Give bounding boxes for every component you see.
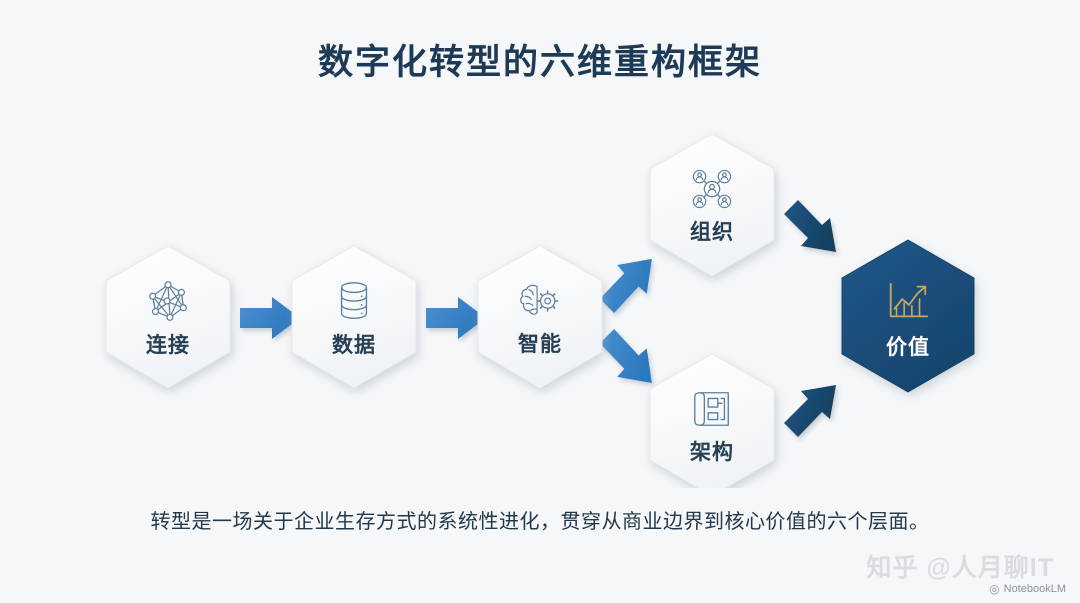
node-org[interactable]: 组织 — [648, 136, 776, 276]
network-mesh-icon — [145, 278, 191, 324]
people-network-icon — [689, 167, 735, 211]
node-intel[interactable]: 智能 — [476, 248, 604, 388]
database-icon — [332, 278, 376, 324]
brain-gear-icon — [516, 279, 564, 323]
growth-chart-icon — [883, 278, 933, 326]
node-data[interactable]: 数据 — [290, 248, 418, 388]
arrow-intel-to-arch — [600, 329, 652, 383]
arrow-arch-to-value — [784, 385, 836, 437]
node-label-intel: 智能 — [518, 328, 562, 358]
notebooklm-label: NotebookLM — [1004, 583, 1066, 595]
node-label-connect: 连接 — [146, 329, 190, 359]
page-title: 数字化转型的六维重构框架 — [0, 34, 1080, 85]
notebooklm-icon: ◎ — [989, 583, 999, 595]
blueprint-icon — [689, 387, 735, 431]
notebooklm-badge: ◎ NotebookLM — [989, 583, 1066, 595]
diagram-stage: 连接 数据 — [0, 118, 1080, 488]
node-connect[interactable]: 连接 — [104, 248, 232, 388]
node-label-value: 价值 — [886, 331, 930, 361]
node-label-org: 组织 — [690, 216, 734, 246]
caption-text: 转型是一场关于企业生存方式的系统性进化，贯穿从商业边界到核心价值的六个层面。 — [0, 505, 1080, 534]
arrow-intel-to-org — [600, 259, 652, 313]
arrow-org-to-value — [784, 200, 836, 252]
node-label-arch: 架构 — [690, 436, 734, 466]
zhihu-watermark: 知乎 @人月聊IT — [866, 548, 1054, 584]
slide-canvas: 数字化转型的六维重构框架 — [0, 0, 1080, 603]
node-value[interactable]: 价值 — [838, 244, 978, 394]
node-label-data: 数据 — [332, 329, 376, 359]
node-arch[interactable]: 架构 — [648, 356, 776, 496]
